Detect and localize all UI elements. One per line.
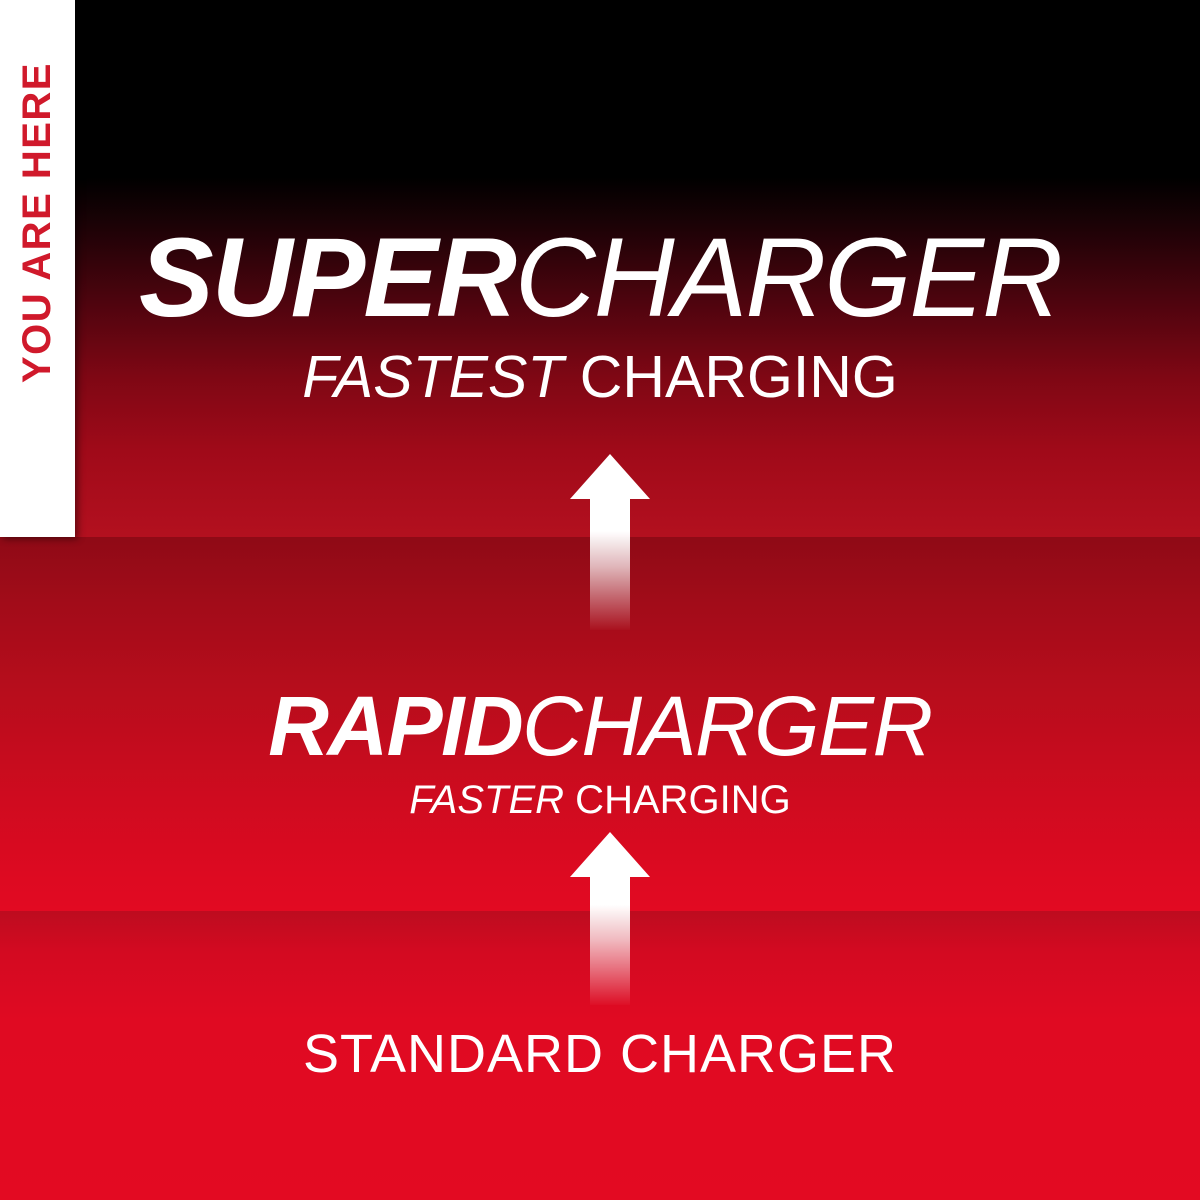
tier-rapidcharger-title-bold: RAPID [268, 679, 522, 773]
tier-rapidcharger-subtitle-italic: FASTER [409, 778, 564, 822]
tier-rapidcharger: RAPIDCHARGER FASTER CHARGING [0, 684, 1200, 820]
arrow-super-up-icon [568, 452, 652, 635]
tier-standardcharger-title: STANDARD CHARGER [0, 1027, 1200, 1081]
tier-supercharger-title: SUPERCHARGER [0, 222, 1200, 334]
tier-rapidcharger-title-light: CHARGER [522, 679, 932, 773]
tier-supercharger-subtitle: FASTEST CHARGING [0, 348, 1200, 407]
tier-supercharger: SUPERCHARGER FASTEST CHARGING [0, 222, 1200, 407]
tier-supercharger-subtitle-italic: FASTEST [302, 344, 563, 410]
charger-tier-poster: SUPERCHARGER FASTEST CHARGING RAPIDCHARG… [0, 0, 1200, 1200]
tier-rapidcharger-title: RAPIDCHARGER [0, 684, 1200, 768]
tier-rapidcharger-subtitle-upright: CHARGING [564, 778, 791, 822]
tier-supercharger-title-bold: SUPER [139, 215, 515, 340]
you-are-here-badge: YOU ARE HERE [0, 0, 75, 537]
tier-supercharger-title-light: CHARGER [515, 215, 1061, 340]
arrow-rapid-up-icon [568, 830, 652, 1010]
tier-rapidcharger-subtitle: FASTER CHARGING [0, 780, 1200, 820]
tier-standardcharger: STANDARD CHARGER [0, 1027, 1200, 1081]
you-are-here-label: YOU ARE HERE [0, 0, 75, 537]
tier-supercharger-subtitle-upright: CHARGING [563, 344, 897, 410]
